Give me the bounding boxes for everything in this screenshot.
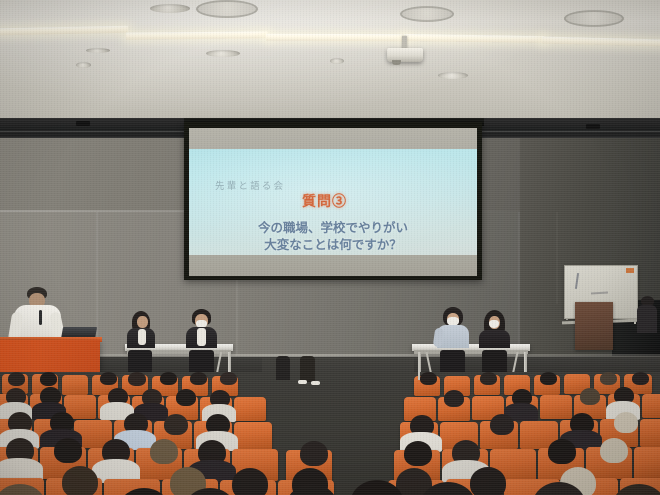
seat — [62, 375, 88, 395]
standing-person-aisle-shoe — [311, 381, 320, 385]
standing-person-aisle — [300, 356, 315, 382]
ceiling-vent — [76, 62, 91, 68]
whiteboard-corner-tag — [626, 268, 634, 273]
audience-head — [540, 372, 557, 385]
whiteboard-marking — [575, 273, 579, 289]
audience-head — [100, 372, 117, 385]
audience-head — [8, 372, 25, 386]
seat — [234, 422, 272, 450]
audience-head — [600, 438, 628, 463]
brown-cabinet — [575, 302, 613, 350]
wall-seam — [556, 212, 558, 304]
audience-head — [480, 372, 497, 385]
audience-head — [160, 372, 177, 385]
slide-body-text: 今の職場、学校でやりがい 大変なことは何ですか？ — [189, 220, 477, 254]
ceiling-vent — [438, 72, 468, 79]
audience-head — [580, 388, 600, 405]
audience-head — [490, 414, 514, 435]
whiteboard-marking — [591, 292, 608, 295]
ceiling-speaker-icon — [564, 10, 624, 27]
standing-person-aisle — [276, 356, 290, 380]
audience-head — [600, 372, 617, 385]
ceiling-vent — [86, 48, 110, 53]
slide-question-label: 質問③ — [302, 191, 347, 211]
ceiling — [0, 0, 660, 122]
ceiling-vent — [206, 50, 240, 57]
track-mount — [586, 124, 600, 129]
screen-unlit-area — [189, 255, 477, 276]
seat — [634, 447, 660, 479]
audience-head — [404, 441, 432, 466]
seat — [540, 395, 572, 419]
audience-head — [632, 372, 649, 385]
audience-head — [164, 414, 188, 435]
seat — [234, 397, 266, 421]
audience-head — [614, 412, 638, 433]
panelist-1-face — [137, 316, 148, 328]
panelist-1-shirt — [138, 329, 146, 345]
panelist-1-lower-body — [128, 350, 152, 374]
track-mount — [76, 121, 90, 126]
audience-head — [62, 466, 98, 495]
slide-body-line-2: 大変なことは何ですか？ — [189, 237, 477, 254]
audience-head — [176, 389, 196, 406]
projector-lens-icon — [392, 60, 401, 65]
audience-head — [54, 438, 82, 463]
ceiling-vent — [330, 58, 344, 64]
panelist-2-shirt — [197, 328, 206, 346]
audience-head — [232, 468, 268, 495]
chair-stack-pole — [418, 352, 420, 380]
audience-head — [190, 372, 207, 385]
seat — [640, 419, 660, 447]
panelist-4-top — [479, 330, 510, 348]
standing-person-aisle-shoe — [298, 380, 307, 384]
projection-screen: 先輩と語る会 質問③ 今の職場、学校でやりがい 大変なことは何ですか？ — [189, 128, 477, 276]
ceiling-speaker-icon — [400, 6, 454, 22]
audience-head — [150, 439, 178, 464]
seat — [642, 394, 660, 418]
ceiling-vent — [150, 4, 190, 13]
auditorium-photo: A large auditorium seen from the back of… — [0, 0, 660, 495]
microphone-icon — [39, 310, 42, 325]
slide-header-text: 先輩と語る会 — [215, 178, 285, 192]
ceiling-light-strip — [266, 34, 406, 41]
wall-seam — [518, 212, 520, 362]
attendant-torso — [637, 305, 657, 333]
audience-head — [444, 390, 464, 407]
audience-head — [300, 441, 328, 466]
audience-head — [420, 372, 437, 385]
ceiling-speaker-icon — [196, 0, 258, 18]
audience-head — [548, 439, 576, 464]
panelist-4-face-mask — [489, 320, 499, 328]
slide-body-line-1: 今の職場、学校でやりがい — [189, 220, 477, 237]
audience-head — [220, 372, 237, 385]
audience-head — [470, 467, 506, 495]
panelist-table-right-apron — [414, 350, 528, 354]
audience-head — [40, 372, 57, 386]
ceiling-light-strip — [126, 31, 268, 39]
table-leg — [228, 352, 231, 374]
audience-seating — [0, 372, 660, 495]
audience-head — [128, 372, 146, 386]
